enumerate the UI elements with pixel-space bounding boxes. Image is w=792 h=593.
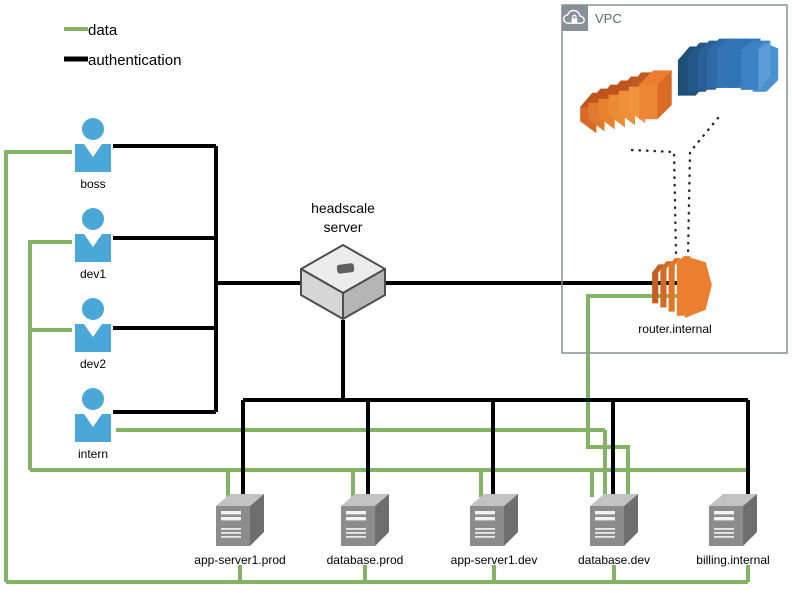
user-label: dev2 [80, 357, 106, 371]
server-node-database-prod[interactable]: database.prod [327, 494, 404, 567]
server-label: app-server1.dev [451, 553, 538, 567]
headscale-cube-icon [301, 245, 385, 319]
router-label: router.internal [638, 322, 711, 336]
data-link-boss [6, 152, 72, 582]
legend-item-data: data [64, 22, 118, 39]
server-icon [709, 494, 757, 546]
server-node-database-dev[interactable]: database.dev [578, 494, 650, 567]
headscale-label-line2: server [324, 219, 363, 235]
server-node-app-server1-prod[interactable]: app-server1.prod [194, 494, 285, 567]
diagram-canvas: VPC router.internal headscale server bos… [0, 0, 792, 593]
legend: data authentication [64, 22, 181, 69]
legend-item-authentication: authentication [64, 52, 181, 69]
server-node-app-server1-dev[interactable]: app-server1.dev [451, 494, 538, 567]
user-icon [75, 388, 111, 442]
data-link-dev1 [30, 242, 72, 470]
user-node-intern[interactable]: intern [75, 388, 111, 461]
user-label: dev1 [80, 267, 106, 281]
server-label: app-server1.prod [194, 553, 285, 567]
server-icon [216, 494, 264, 546]
user-label: intern [78, 447, 108, 461]
server-node-billing-internal[interactable]: billing.internal [696, 494, 769, 567]
server-icon [341, 494, 389, 546]
user-icon [75, 208, 111, 262]
user-icon [75, 298, 111, 352]
user-label: boss [80, 177, 105, 191]
server-icon [470, 494, 518, 546]
user-node-boss[interactable]: boss [75, 118, 111, 191]
network-topology-diagram: VPC router.internal headscale server bos… [0, 0, 792, 593]
server-icon [590, 494, 638, 546]
server-label: billing.internal [696, 553, 769, 567]
aws-rds-instances-icon[interactable] [678, 39, 778, 96]
headscale-server-node[interactable]: headscale server [301, 200, 385, 319]
user-node-dev1[interactable]: dev1 [75, 208, 111, 281]
user-icon [75, 118, 111, 172]
vpc-label: VPC [595, 11, 622, 26]
user-node-dev2[interactable]: dev2 [75, 298, 111, 371]
legend-label-authentication: authentication [88, 52, 181, 69]
legend-label-data: data [88, 22, 118, 39]
headscale-label-line1: headscale [311, 200, 375, 216]
server-label: database.dev [578, 553, 650, 567]
server-label: database.prod [327, 553, 404, 567]
